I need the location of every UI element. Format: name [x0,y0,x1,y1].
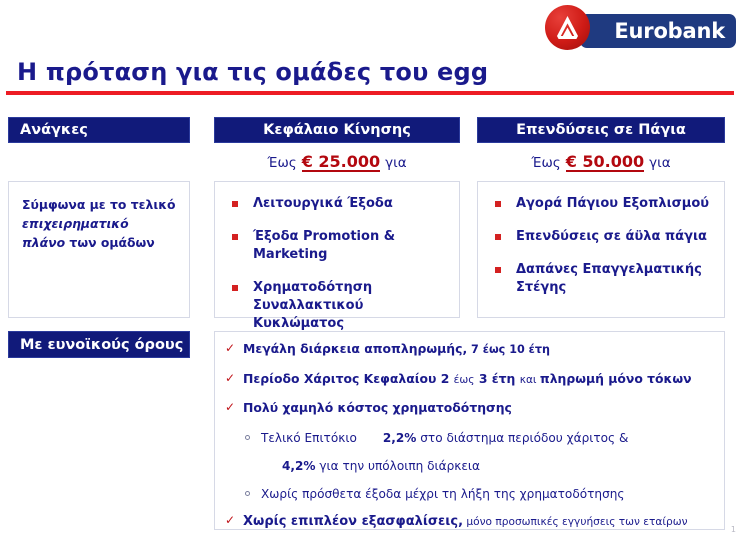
column-header-working-capital-label: Κεφάλαιο Κίνησης [263,122,411,138]
term-row-no-collateral: ✓ Χωρίς επιπλέον εξασφαλίσεις, μόνο προσ… [224,513,714,531]
term-grace-c: 3 έτη [475,371,520,386]
square-bullet-icon [495,267,501,273]
term-row-duration: ✓ Μεγάλη διάρκεια αποπληρωμής, 7 έως 10 … [224,341,714,358]
amount-prefix: Έως [531,155,560,171]
eurobank-wordmark-text: Eurobank [614,19,725,43]
term-duration-lead: Μεγάλη [243,341,300,356]
list-item-label: Αγορά Πάγιου Εξοπλισμού [516,196,709,211]
check-icon: ✓ [225,514,235,526]
amount-suffix: για [385,155,406,171]
sub-rate-label: Τελικό Επιτόκιο [261,431,357,445]
square-bullet-icon [232,201,238,207]
term-grace-e: πληρωμή μόνο τόκων [540,371,692,386]
circle-bullet-icon [245,435,250,440]
term-grace-a: Περίοδο Χάριτος Κεφαλαίου 2 [243,371,454,386]
amount-suffix: για [649,155,670,171]
page-number: 1 [731,525,736,534]
column-header-needs: Ανάγκες [8,117,190,143]
list-item-label: Επενδύσεις σε άϋλα πάγια [516,229,707,244]
column-header-fixed-assets-label: Επενδύσεις σε Πάγια [516,122,686,138]
panel-fixed-assets: Αγορά Πάγιου Εξοπλισμού Επενδύσεις σε άϋ… [477,181,725,318]
square-bullet-icon [495,201,501,207]
section-header-terms: Με ευνοϊκούς όρους [8,331,190,358]
list-item: Αγορά Πάγιου Εξοπλισμού [492,195,714,213]
check-icon: ✓ [225,401,235,413]
term-no-collateral-bold: Χωρίς επιπλέον εξασφαλίσεις, [243,514,463,529]
sub-row-final-rate: Τελικό Επιτόκιο2,2% στο διάστημα περιόδο… [224,430,714,446]
needs-text-suffix: των ομάδων [65,235,155,250]
term-duration-emphasis: διάρκεια αποπληρωμής, [300,341,467,356]
check-icon: ✓ [225,342,235,354]
needs-description: Σύμφωνα με το τελικό επιχειρηματικό πλάν… [9,182,189,253]
circle-bullet-icon [245,491,250,496]
square-bullet-icon [232,285,238,291]
fixed-assets-list: Αγορά Πάγιου Εξοπλισμού Επενδύσεις σε άϋ… [478,182,724,297]
needs-text-prefix: Σύμφωνα με το τελικό [22,197,176,212]
column-header-fixed-assets: Επενδύσεις σε Πάγια [477,117,725,143]
sub-rate-text-grace: στο διάστημα περιόδου χάριτος & [416,431,628,445]
list-item-label: Χρηματοδότηση Συναλλακτικού Κυκλώματος [253,280,372,331]
eurobank-triangle-icon [545,5,590,50]
sub-row-no-extra-costs: Χωρίς πρόσθετα έξοδα μέχρι τη λήξη της χ… [224,486,714,502]
working-capital-list: Λειτουργικά Έξοδα Έξοδα Promotion & Mark… [215,182,459,333]
term-no-collateral-note: μόνο προσωπικές εγγυήσεις των εταίρων [463,516,687,528]
term-row-grace-period: ✓ Περίοδο Χάριτος Κεφαλαίου 2 έως 3 έτη … [224,371,714,388]
check-icon: ✓ [225,372,235,384]
amount-prefix: Έως [267,155,296,171]
term-lowcost-a: Πολύ [243,400,282,415]
list-item: Χρηματοδότηση Συναλλακτικού Κυκλώματος [229,279,449,333]
page-title: Η πρόταση για τις ομάδες του egg [17,58,488,86]
panel-needs: Σύμφωνα με το τελικό επιχειρηματικό πλάν… [8,181,190,318]
panel-working-capital: Λειτουργικά Έξοδα Έξοδα Promotion & Mark… [214,181,460,318]
amount-line-fixed-assets: Έως € 50.000 για [477,152,725,174]
section-header-terms-label: Με ευνοϊκούς όρους [20,337,183,353]
column-header-needs-label: Ανάγκες [20,122,88,138]
eurobank-logo: Eurobank [536,4,736,52]
list-item-label: Δαπάνες Επαγγελματικής Στέγης [516,262,702,295]
list-item: Έξοδα Promotion & Marketing [229,228,449,264]
list-item: Λειτουργικά Έξοδα [229,195,449,213]
panel-terms: ✓ Μεγάλη διάρκεια αποπληρωμής, 7 έως 10 … [214,331,725,530]
sub-row-remaining-rate: 4,2% για την υπόλοιπη διάρκεια [224,458,714,474]
amount-line-working-capital: Έως € 25.000 για [214,152,460,174]
term-grace-d: και [520,374,540,386]
amount-value-working-capital: € 25.000 [302,154,380,173]
list-item: Δαπάνες Επαγγελματικής Στέγης [492,261,714,297]
list-item: Επενδύσεις σε άϋλα πάγια [492,228,714,246]
column-header-working-capital: Κεφάλαιο Κίνησης [214,117,460,143]
title-underline-rule [6,91,734,95]
sub-rate-value-remaining: 4,2% [282,459,316,473]
amount-value-fixed-assets: € 50.000 [566,154,644,173]
term-row-low-cost: ✓ Πολύ χαμηλό κόστος χρηματοδότησης [224,400,714,417]
sub-rate-value-grace: 2,2% [383,431,417,445]
term-lowcost-b: χαμηλό κόστος χρηματοδότησης [282,400,511,415]
eurobank-wordmark: Eurobank [580,14,736,48]
square-bullet-icon [495,234,501,240]
list-item-label: Έξοδα Promotion & Marketing [253,229,395,262]
list-item-label: Λειτουργικά Έξοδα [253,196,393,211]
terms-list: ✓ Μεγάλη διάρκεια αποπληρωμής, 7 έως 10 … [215,332,724,531]
sub-rate-text-remaining: για την υπόλοιπη διάρκεια [316,459,480,473]
term-duration-tail: 7 έως 10 έτη [467,343,550,356]
sub-no-extra-costs-label: Χωρίς πρόσθετα έξοδα μέχρι τη λήξη της χ… [261,487,625,501]
term-grace-b: έως [454,374,475,386]
square-bullet-icon [232,234,238,240]
